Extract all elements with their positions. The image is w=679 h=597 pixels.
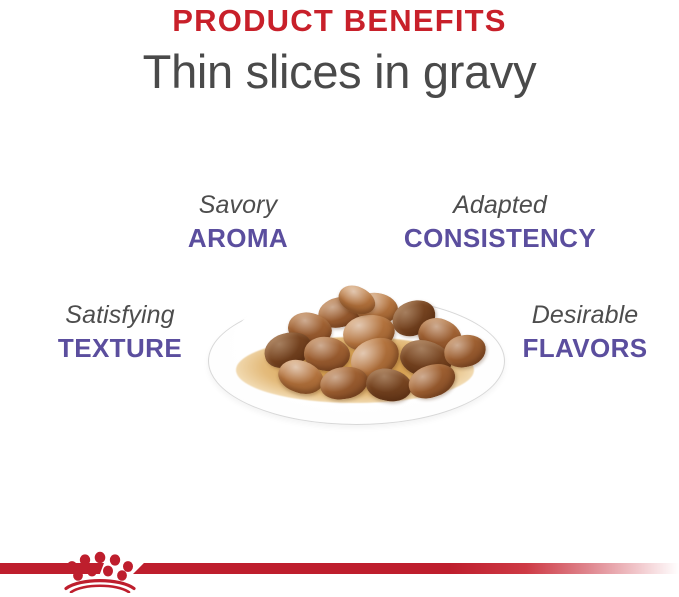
page-eyebrow-title: PRODUCT BENEFITS — [0, 0, 679, 38]
benefit-aroma: Savory AROMA — [120, 193, 356, 251]
benefit-consistency-adjective: Adapted — [392, 193, 608, 218]
page-title: Thin slices in gravy — [0, 38, 679, 98]
benefit-flavors: Desirable FLAVORS — [500, 303, 670, 361]
benefit-flavors-adjective: Desirable — [500, 303, 670, 328]
benefit-aroma-adjective: Savory — [120, 193, 356, 218]
benefit-texture: Satisfying TEXTURE — [22, 303, 218, 361]
benefit-consistency-label: CONSISTENCY — [392, 225, 608, 251]
product-food-image — [200, 275, 510, 430]
benefit-texture-adjective: Satisfying — [22, 303, 218, 328]
benefit-texture-label: TEXTURE — [22, 335, 218, 361]
header: PRODUCT BENEFITS Thin slices in gravy — [0, 0, 679, 98]
footer — [0, 545, 679, 597]
product-benefits-infographic: PRODUCT BENEFITS Thin slices in gravy Sa… — [0, 0, 679, 597]
royal-canin-crown-icon — [58, 547, 142, 593]
footer-bar-right — [133, 563, 679, 574]
benefit-aroma-label: AROMA — [120, 225, 356, 251]
benefit-consistency: Adapted CONSISTENCY — [392, 193, 608, 251]
benefit-flavors-label: FLAVORS — [500, 335, 670, 361]
